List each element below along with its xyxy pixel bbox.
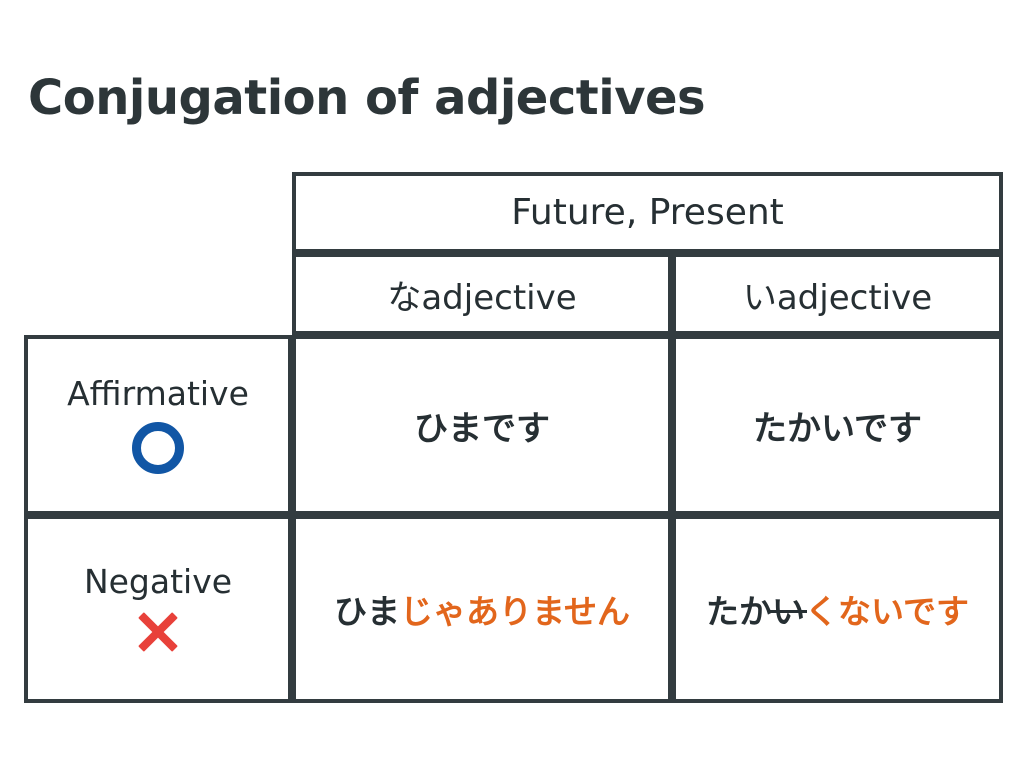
negative-label: Negative — [84, 564, 232, 600]
row-header-affirmative: Affirmative — [24, 335, 292, 515]
cross-batsu-icon — [136, 610, 180, 654]
circle-maru-icon — [132, 422, 184, 474]
negative-i-struck-kana: い — [772, 585, 805, 633]
table-cell-affirmative-na: ひまです — [292, 335, 672, 515]
tense-header-label: Future, Present — [511, 192, 784, 233]
negative-i-suffix: くないです — [805, 585, 969, 633]
row-header-negative: Negative — [24, 515, 292, 703]
table-cell-negative-i: たか い くないです — [672, 515, 1003, 703]
table-header-i-adjective: いadjective — [672, 253, 1003, 335]
i-adjective-label: いadjective — [743, 270, 932, 319]
negative-i-stem: たか — [706, 585, 772, 633]
table-header-na-adjective: なadjective — [292, 253, 672, 335]
page-title: Conjugation of adjectives — [28, 72, 705, 125]
table-header-tense: Future, Present — [292, 172, 1003, 253]
conjugation-table: Future, Present なadjective いadjective Af… — [24, 172, 1003, 703]
affirmative-na-stem: ひまです — [414, 401, 550, 450]
table-cell-negative-na: ひま じゃありません — [292, 515, 672, 703]
negative-na-suffix: じゃありません — [400, 585, 630, 633]
table-cell-affirmative-i: たかいです — [672, 335, 1003, 515]
negative-na-stem: ひま — [334, 585, 400, 633]
na-adjective-label: なadjective — [387, 270, 576, 319]
affirmative-label: Affirmative — [67, 376, 249, 412]
affirmative-i-stem: たかいです — [753, 401, 922, 450]
